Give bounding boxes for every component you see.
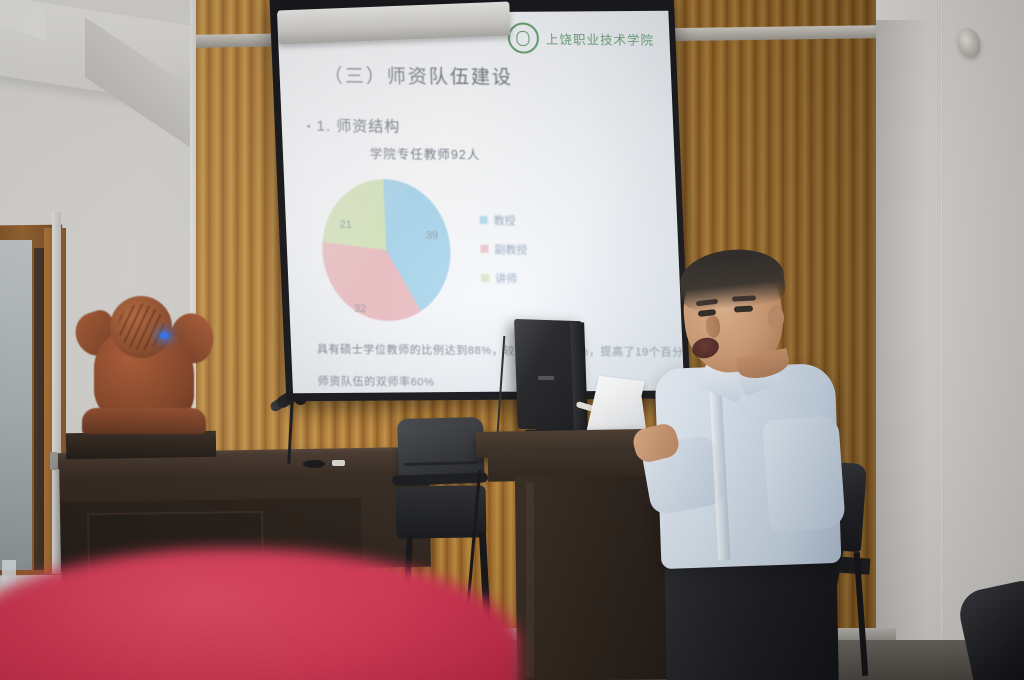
legend-item: 副教授 [480,241,527,257]
podium-highlight [526,482,534,678]
slide-subtitle: 学院专任教师92人 [370,143,481,163]
right-wall-shadow [868,20,928,680]
pie-chart [319,179,453,322]
slide-title: （三）师资队伍建设 [323,61,513,90]
chart-legend: 教授 副教授 讲师 [479,212,528,286]
presenter-ear [768,306,784,330]
legend-swatch [481,274,489,282]
small-white-item [332,460,345,466]
legend-item: 讲师 [481,270,528,286]
logo-text: 上饶职业技术学院 [546,29,655,49]
bullet-dot-icon: • [307,121,312,132]
screen-surface: 上饶职业技术学院 （三）师资队伍建设 •1. 师资结构 学院专任教师92人 39… [277,11,684,393]
door-glass-panel [0,240,32,570]
institution-logo: 上饶职业技术学院 [507,22,654,54]
legend-label: 讲师 [495,270,517,286]
pie-slice-label-1: 32 [354,303,367,315]
right-wall-seam [940,0,943,660]
slide-bullet: •1. 师资结构 [307,115,401,137]
sculpture-orb [110,296,172,358]
pie-slice-label-2: 21 [339,219,352,231]
legend-item: 教授 [479,212,526,228]
door-handle[interactable] [50,452,58,470]
presenter [640,250,870,680]
presentation-slide: 上饶职业技术学院 （三）师资队伍建设 •1. 师资结构 学院专任教师92人 39… [280,11,681,393]
monitor-logo-badge [538,376,554,380]
legend-label: 副教授 [494,241,527,257]
ceiling-notch [0,0,46,41]
blue-led-indicator-icon [160,332,169,339]
slide-bullet-text: 1. 师资结构 [316,118,400,136]
legend-swatch [480,216,488,224]
small-round-tray [303,460,325,468]
presenter-hair [677,245,786,314]
carved-wood-horse-sculpture [74,288,214,438]
slide-note-primary: 具有硕士学位教师的比例达到88%，较2010年的69%，提高了19个百分点。 [317,340,685,359]
presenter-eye [734,306,753,313]
presentation-room-photo: 上饶职业技术学院 （三）师资队伍建设 •1. 师资结构 学院专任教师92人 39… [0,0,1024,680]
legend-label: 教授 [493,212,515,228]
presenter-sleeve [762,415,846,532]
slide-note-secondary: 师资队伍的双师率60% [317,372,434,389]
presenter-trousers [664,549,839,680]
legend-swatch [480,245,488,253]
door-glass-highlight [2,560,16,586]
sculpture-base [82,408,206,434]
pie-slice-label-0: 39 [426,229,439,241]
green-circle-emblem-icon [507,22,539,53]
projection-screen: 上饶职业技术学院 （三）师资队伍建设 •1. 师资结构 学院专任教师92人 39… [269,0,690,401]
